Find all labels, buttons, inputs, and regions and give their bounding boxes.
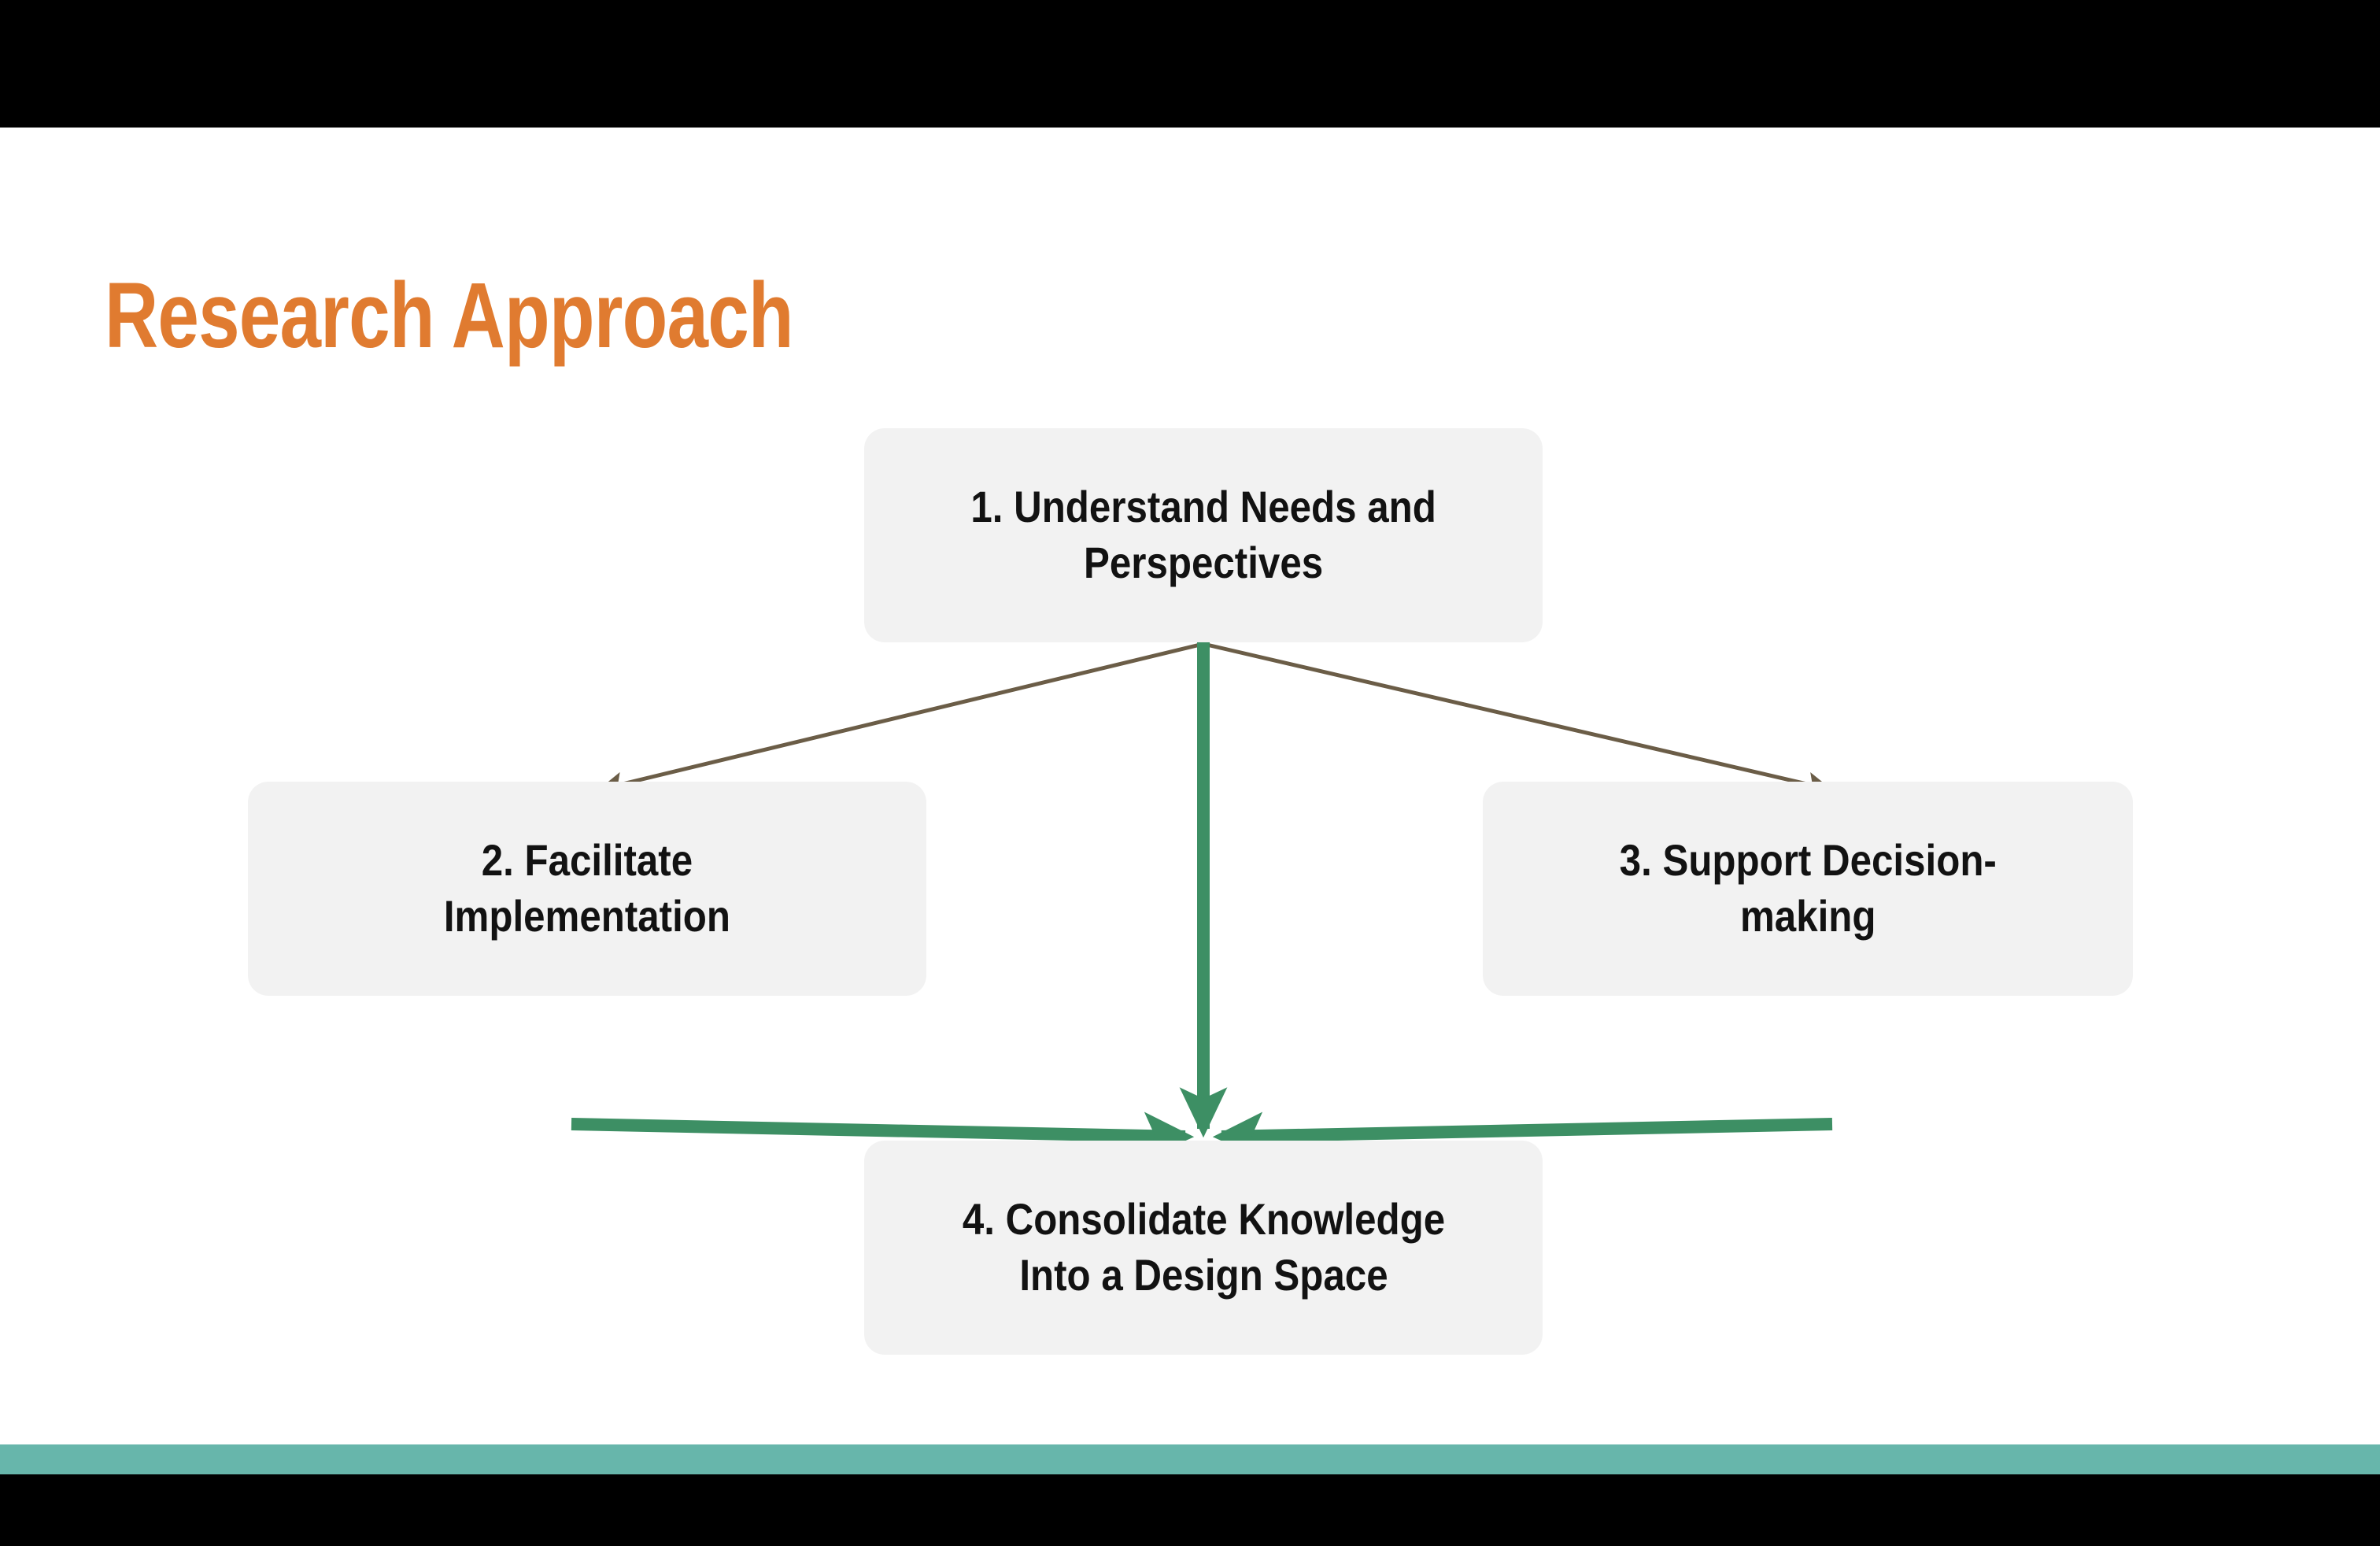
letterbox-bar-bottom [0, 1474, 2380, 1546]
diagram-node-3[interactable]: 3. Support Decision- making [1483, 782, 2133, 996]
diagram-node-4[interactable]: 4. Consolidate Knowledge Into a Design S… [864, 1141, 1543, 1355]
diagram-node-2-label: 2. Facilitate Implementation [444, 833, 730, 944]
diagram-node-4-label: 4. Consolidate Knowledge Into a Design S… [962, 1192, 1444, 1303]
slide-title: Research Approach [105, 268, 793, 365]
connector-node1-to-node2 [603, 644, 1203, 789]
diagram-node-1-label: 1. Understand Needs and Perspectives [970, 479, 1436, 590]
diagram-node-1[interactable]: 1. Understand Needs and Perspectives [864, 428, 1543, 642]
connector-node3-to-node4 [1221, 1124, 1832, 1137]
slide-canvas: 1. Understand Needs and Perspectives 2. … [0, 128, 2380, 1444]
slide-root: 1. Understand Needs and Perspectives 2. … [0, 0, 2380, 1546]
diagram-node-2[interactable]: 2. Facilitate Implementation [248, 782, 926, 996]
connector-node1-to-node3 [1203, 644, 1828, 789]
accent-bar [0, 1444, 2380, 1474]
letterbox-bar-top [0, 0, 2380, 128]
connector-node2-to-node4 [571, 1124, 1185, 1137]
diagram-node-3-label: 3. Support Decision- making [1619, 833, 1996, 944]
